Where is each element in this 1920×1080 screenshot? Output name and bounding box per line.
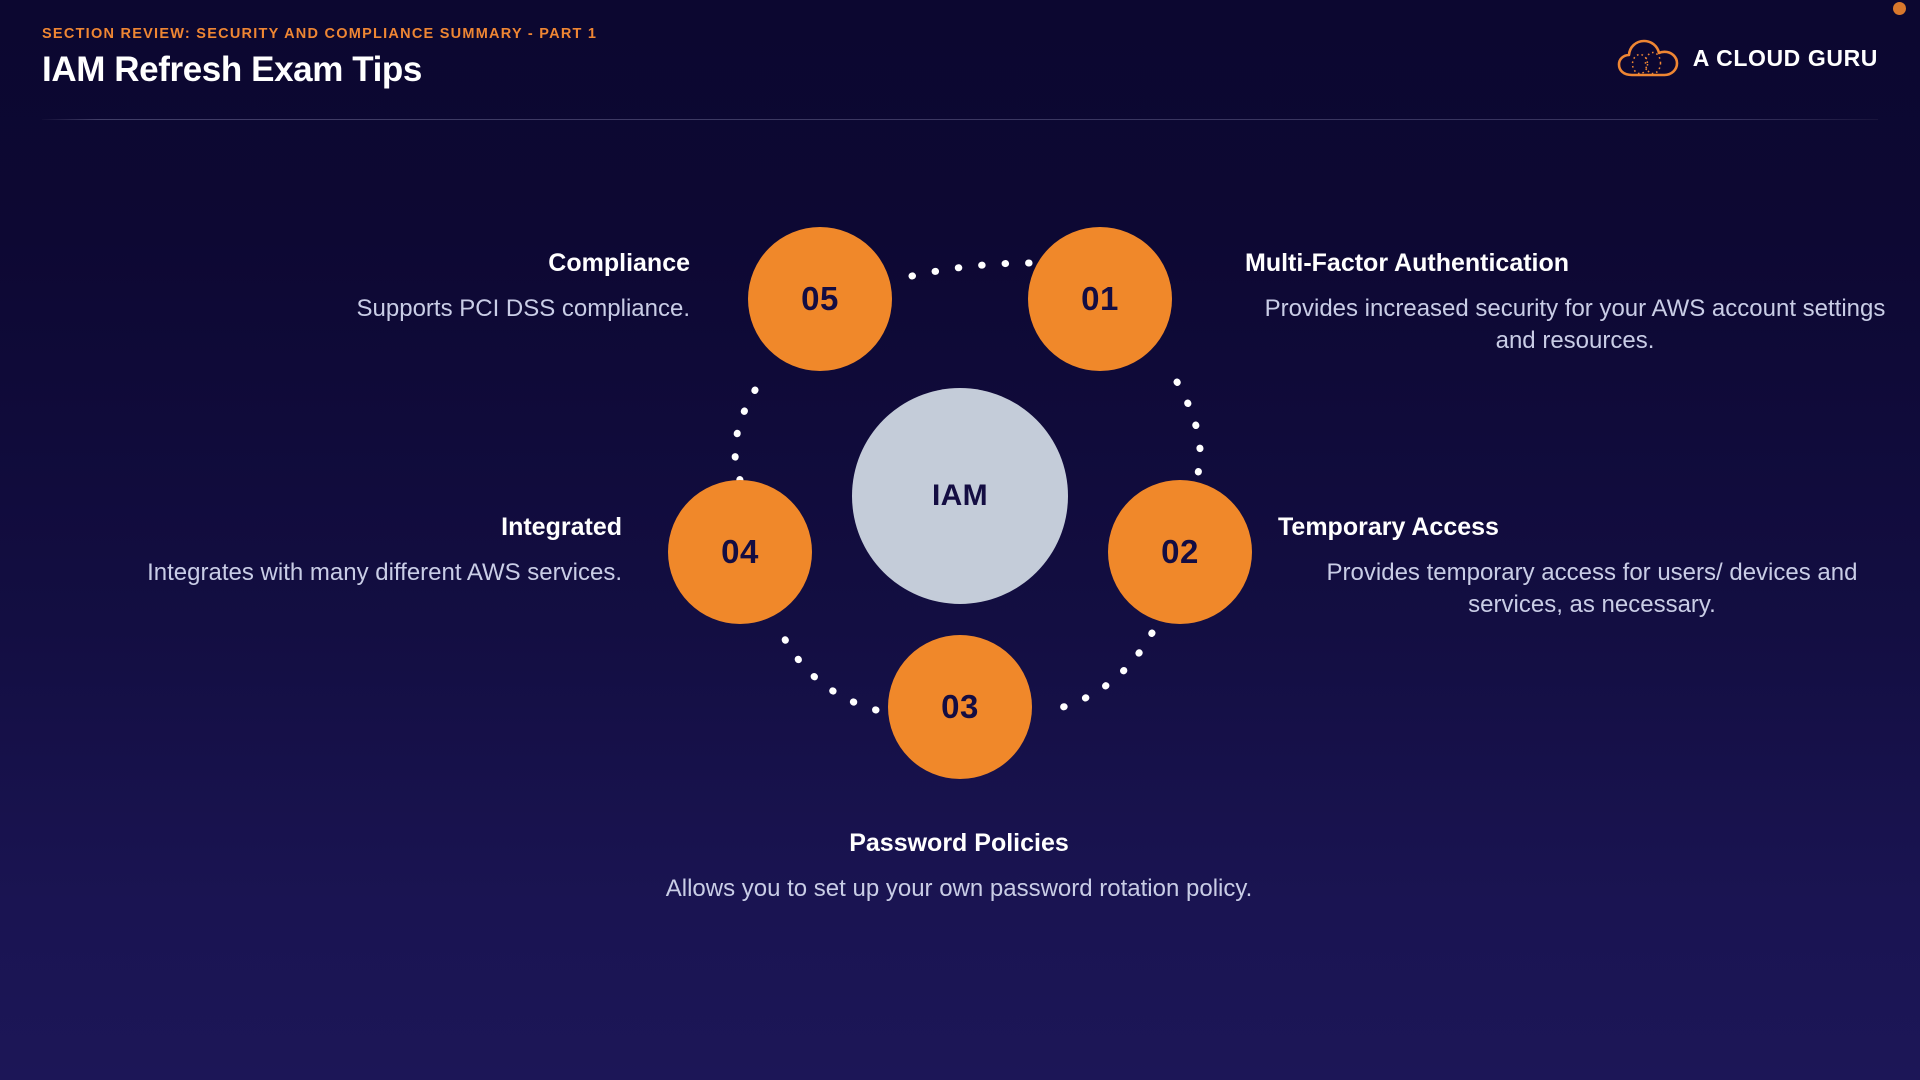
- iam-cycle-diagram: 01 02 03 04 05 IAM Multi-Factor Authenti…: [0, 0, 1920, 1080]
- callout-03-body: Allows you to set up your own password r…: [660, 873, 1258, 905]
- callout-05: Compliance Supports PCI DSS compliance.: [180, 248, 690, 325]
- node-03[interactable]: 03: [888, 635, 1032, 779]
- node-02[interactable]: 02: [1108, 480, 1252, 624]
- node-02-number: 02: [1161, 533, 1199, 571]
- node-01[interactable]: 01: [1028, 227, 1172, 371]
- callout-01: Multi-Factor Authentication Provides inc…: [1245, 248, 1905, 356]
- node-center-iam: IAM: [852, 388, 1068, 604]
- callout-03-title: Password Policies: [660, 828, 1258, 858]
- callout-04-body: Integrates with many different AWS servi…: [100, 557, 622, 589]
- callout-01-body: Provides increased security for your AWS…: [1245, 293, 1905, 356]
- callout-02-body: Provides temporary access for users/ dev…: [1278, 557, 1906, 620]
- callout-01-title: Multi-Factor Authentication: [1245, 248, 1905, 278]
- callout-05-title: Compliance: [180, 248, 690, 278]
- slide-canvas: SECTION REVIEW: SECURITY AND COMPLIANCE …: [0, 0, 1920, 1080]
- node-04-number: 04: [721, 533, 759, 571]
- callout-05-body: Supports PCI DSS compliance.: [180, 293, 690, 325]
- node-01-number: 01: [1081, 280, 1119, 318]
- node-03-number: 03: [941, 688, 979, 726]
- callout-04-title: Integrated: [100, 512, 622, 542]
- node-04[interactable]: 04: [668, 480, 812, 624]
- callout-02: Temporary Access Provides temporary acce…: [1278, 512, 1906, 620]
- node-05-number: 05: [801, 280, 839, 318]
- callout-02-title: Temporary Access: [1278, 512, 1906, 542]
- callout-03: Password Policies Allows you to set up y…: [660, 828, 1258, 905]
- callout-04: Integrated Integrates with many differen…: [100, 512, 622, 589]
- node-05[interactable]: 05: [748, 227, 892, 371]
- center-label: IAM: [932, 479, 988, 513]
